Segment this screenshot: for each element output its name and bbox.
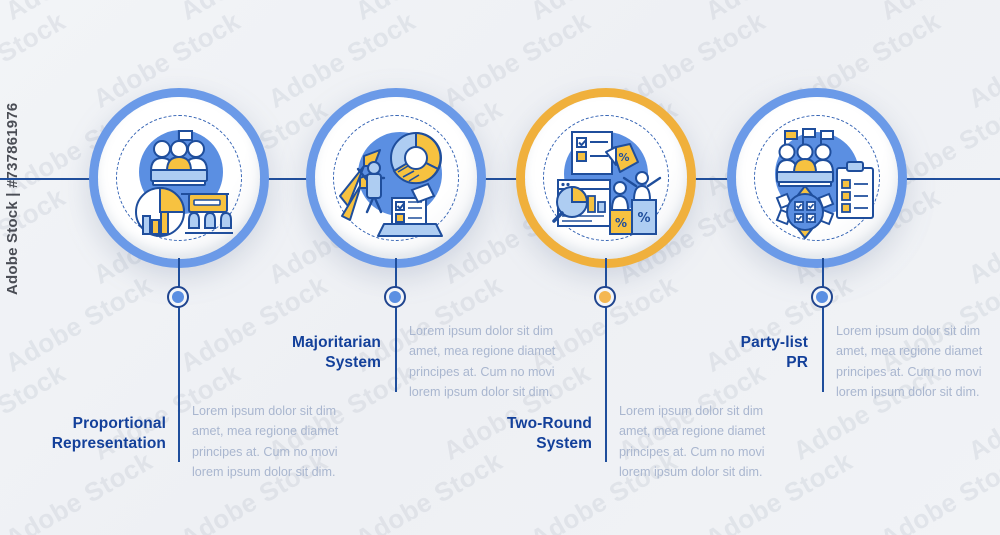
watermark-text: Adobe Stock <box>0 270 158 379</box>
step-body-4: Lorem ipsum dolor sit dim amet, mea regi… <box>836 321 1000 403</box>
checklist-percent-podium-icon: % % <box>544 116 668 240</box>
step-stem-2 <box>395 258 397 392</box>
assembly-parliament-chart-icon <box>117 116 241 240</box>
step-title-4: Party-list PR <box>642 333 808 374</box>
watermark-text: Adobe Stock <box>175 0 333 27</box>
watermark-text: Adobe Stock <box>350 0 508 27</box>
step-title-3: Two-Round System <box>426 414 592 455</box>
step-dot-3[interactable] <box>594 286 616 308</box>
watermark-text: Adobe Stock <box>963 182 1000 291</box>
step-circle-4[interactable] <box>727 88 907 268</box>
step-circle-2[interactable] <box>306 88 486 268</box>
step-title-1: Proportional Representation <box>0 414 166 455</box>
svg-text:%: % <box>618 151 629 164</box>
step-circle-3[interactable]: % % <box>516 88 696 268</box>
step-stem-4 <box>822 258 824 392</box>
step-body-2: Lorem ipsum dolor sit dim amet, mea regi… <box>409 321 575 403</box>
adobe-stock-id-label: Adobe Stock | #737861976 <box>4 103 21 295</box>
svg-text:%: % <box>637 211 650 226</box>
watermark-text: Adobe Stock <box>875 0 1000 27</box>
watermark-text: Adobe Stock <box>0 446 158 535</box>
step-dot-2[interactable] <box>384 286 406 308</box>
growth-arrows-donut-ballot-icon <box>334 116 458 240</box>
step-circle-1[interactable] <box>89 88 269 268</box>
watermark-text: Adobe Stock <box>0 6 71 115</box>
watermark-text: Adobe Stock <box>350 446 508 535</box>
step-body-1: Lorem ipsum dolor sit dim amet, mea regi… <box>192 401 358 483</box>
watermark-text: Adobe Stock <box>700 0 858 27</box>
watermark-text: Adobe Stock <box>525 0 683 27</box>
watermark-text: Adobe Stock <box>0 0 158 27</box>
step-body-3: Lorem ipsum dolor sit dim amet, mea regi… <box>619 401 785 483</box>
watermark-text: Adobe Stock <box>875 446 1000 535</box>
watermark-text: Adobe Stock <box>963 6 1000 115</box>
infographic-canvas: Adobe StockAdobe StockAdobe StockAdobe S… <box>0 0 1000 535</box>
party-delegates-clipboard-votes-icon <box>755 116 879 240</box>
step-dot-1[interactable] <box>167 286 189 308</box>
step-dot-4[interactable] <box>811 286 833 308</box>
svg-text:%: % <box>615 216 627 230</box>
step-title-2: Majoritarian System <box>215 333 381 374</box>
